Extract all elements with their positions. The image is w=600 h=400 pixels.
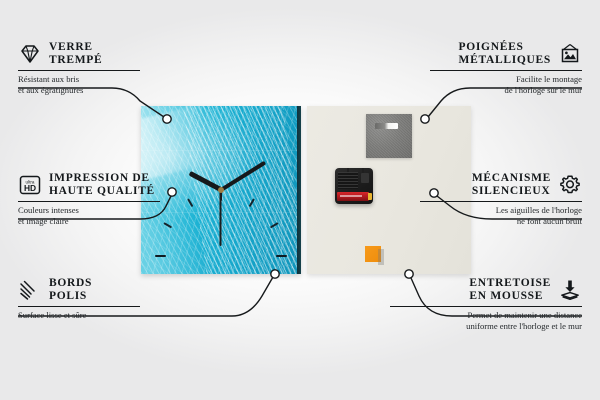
hands-center-cap	[218, 187, 224, 193]
press-layers-icon	[558, 278, 582, 302]
polished-edges-icon	[18, 278, 42, 302]
callout-header: BORDS POLIS	[18, 277, 140, 303]
callout-impression-haute-qualite: ultra HD IMPRESSION DE HAUTE QUALITÉ Cou…	[18, 172, 160, 226]
gear-icon	[558, 173, 582, 197]
callout-poignees-metalliques: POIGNÉES MÉTALLIQUES Facilite le montage…	[430, 41, 582, 95]
callout-subtitle: Surface lisse et sûre	[18, 310, 140, 321]
clock-dial	[141, 106, 301, 274]
hanging-frame-icon	[558, 42, 582, 66]
callout-title: POIGNÉES MÉTALLIQUES	[459, 41, 551, 67]
callout-divider	[420, 201, 582, 202]
metal-hanger-plate	[366, 114, 412, 158]
callout-title: BORDS POLIS	[49, 277, 92, 303]
callout-mecanisme-silencieux: MÉCANISME SILENCIEUX Les aiguilles de l'…	[420, 172, 582, 226]
hour-marker	[155, 255, 221, 257]
callout-subtitle: Permet de maintenir une distance uniform…	[390, 310, 582, 331]
callout-bords-polis: BORDS POLIS Surface lisse et sûre	[18, 277, 140, 321]
clock-face	[141, 106, 301, 274]
callout-divider	[18, 306, 140, 307]
callout-divider	[430, 70, 582, 71]
glass-edge	[297, 106, 301, 274]
hour-marker	[221, 255, 287, 257]
foam-spacer	[365, 246, 381, 262]
callout-divider	[390, 306, 582, 307]
callout-header: MÉCANISME SILENCIEUX	[420, 172, 582, 198]
callout-header: ultra HD IMPRESSION DE HAUTE QUALITÉ	[18, 172, 160, 198]
ultra-hd-icon: ultra HD	[18, 173, 42, 197]
hour-marker	[220, 198, 255, 256]
callout-header: VERRE TREMPÉ	[18, 41, 140, 67]
hanger-slot	[375, 123, 398, 129]
callout-header: POIGNÉES MÉTALLIQUES	[430, 41, 582, 67]
callout-subtitle: Couleurs intenses et image claire	[18, 205, 160, 226]
callout-title: MÉCANISME SILENCIEUX	[472, 172, 551, 198]
movement-grill	[338, 172, 358, 189]
movement-chip	[361, 173, 369, 183]
diamond-icon	[18, 42, 42, 66]
callout-title: IMPRESSION DE HAUTE QUALITÉ	[49, 172, 155, 198]
aa-battery	[337, 192, 369, 201]
callout-title: ENTRETOISE EN MOUSSE	[469, 277, 551, 303]
callout-entretoise-en-mousse: ENTRETOISE EN MOUSSE Permet de maintenir…	[390, 277, 582, 331]
callout-subtitle: Facilite le montage de l'horloge sur le …	[430, 74, 582, 95]
ultra-hd-icon-bottom: HD	[24, 183, 36, 193]
callout-verre-trempe: VERRE TREMPÉ Résistant aux bris et aux é…	[18, 41, 140, 95]
callout-divider	[18, 70, 140, 71]
callout-divider	[18, 201, 160, 202]
infographic-canvas: VERRE TREMPÉ Résistant aux bris et aux é…	[0, 0, 600, 400]
callout-title: VERRE TREMPÉ	[49, 41, 102, 67]
callout-header: ENTRETOISE EN MOUSSE	[390, 277, 582, 303]
battery-label-band	[340, 195, 362, 197]
clock-movement	[335, 168, 373, 204]
minute-hand	[220, 161, 266, 192]
callout-subtitle: Les aiguilles de l'horloge ne font aucun…	[420, 205, 582, 226]
callout-subtitle: Résistant aux bris et aux égratignures	[18, 74, 140, 95]
